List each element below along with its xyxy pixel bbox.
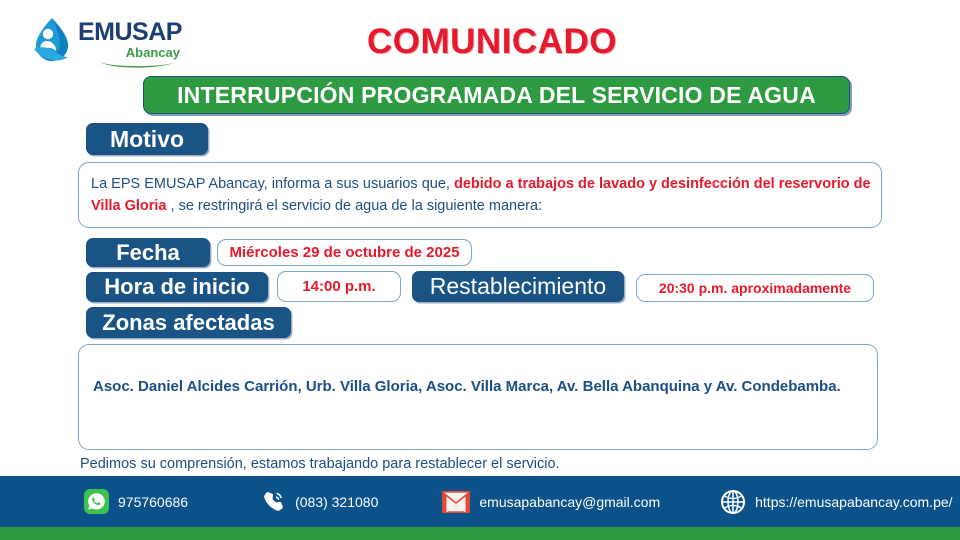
globe-icon <box>720 489 746 515</box>
zonas-afectadas-label-badge: Zonas afectadas <box>86 307 291 338</box>
hora-inicio-value: 14:00 p.m. <box>277 271 401 302</box>
closing-note: Pedimos su comprensión, estamos trabajan… <box>80 456 560 472</box>
banner-subtitle: INTERRUPCIÓN PROGRAMADA DEL SERVICIO DE … <box>143 76 850 114</box>
phone-number: (083) 321080 <box>295 494 378 510</box>
motivo-label-badge: Motivo <box>86 123 208 155</box>
footer-green-strip <box>0 527 960 540</box>
footer-contacts: 975760686 (083) 321080 emusapabancay@gma… <box>0 476 960 527</box>
website-url: https://emusapabancay.com.pe/ <box>755 494 952 510</box>
motivo-textbox: La EPS EMUSAP Abancay, informa a sus usu… <box>78 162 882 228</box>
whatsapp-number: 975760686 <box>118 494 188 510</box>
contact-email[interactable]: emusapabancay@gmail.com <box>442 491 660 513</box>
motivo-text: La EPS EMUSAP Abancay, informa a sus usu… <box>91 173 871 218</box>
restablecimiento-value: 20:30 p.m. aproximadamente <box>636 274 874 302</box>
hora-inicio-label-badge: Hora de inicio <box>86 272 268 302</box>
email-address: emusapabancay@gmail.com <box>479 494 660 510</box>
footer-bar: 975760686 (083) 321080 emusapabancay@gma… <box>0 476 960 540</box>
phone-icon <box>260 489 286 515</box>
whatsapp-icon <box>84 489 109 514</box>
contact-whatsapp[interactable]: 975760686 <box>84 489 188 514</box>
comunicado-poster: EMUSAP Abancay COMUNICADO INTERRUPCIÓN P… <box>0 0 960 540</box>
fecha-label-badge: Fecha <box>86 238 210 267</box>
fecha-value: Miércoles 29 de octubre de 2025 <box>217 239 472 266</box>
contact-website[interactable]: https://emusapabancay.com.pe/ <box>720 489 952 515</box>
gmail-icon <box>442 491 470 513</box>
zonas-afectadas-text: Asoc. Daniel Alcides Carrión, Urb. Villa… <box>93 375 865 399</box>
page-title: COMUNICADO <box>12 22 960 62</box>
contact-phone[interactable]: (083) 321080 <box>260 489 378 515</box>
motivo-text-part2: , se restringirá el servicio de agua de … <box>167 198 543 214</box>
motivo-text-part1: La EPS EMUSAP Abancay, informa a sus usu… <box>91 176 454 192</box>
restablecimiento-label-badge: Restablecimiento <box>412 271 624 302</box>
zonas-afectadas-textbox: Asoc. Daniel Alcides Carrión, Urb. Villa… <box>78 344 878 450</box>
